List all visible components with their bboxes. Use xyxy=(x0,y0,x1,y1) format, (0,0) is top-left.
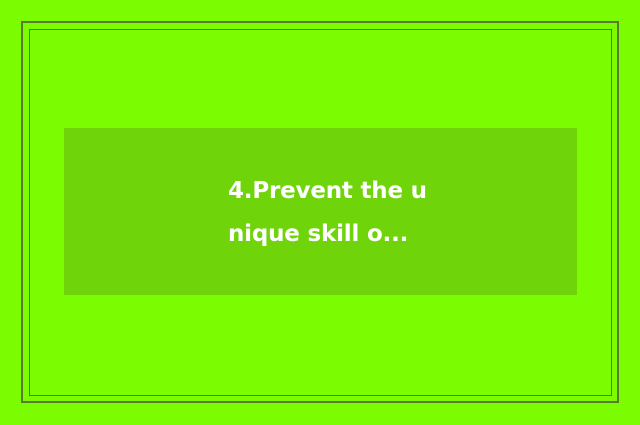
caption-panel: 4.Prevent the u nique skill o... xyxy=(64,128,577,295)
slide-canvas: 4.Prevent the u nique skill o... xyxy=(0,0,640,425)
caption-text: 4.Prevent the u nique skill o... xyxy=(228,170,577,256)
